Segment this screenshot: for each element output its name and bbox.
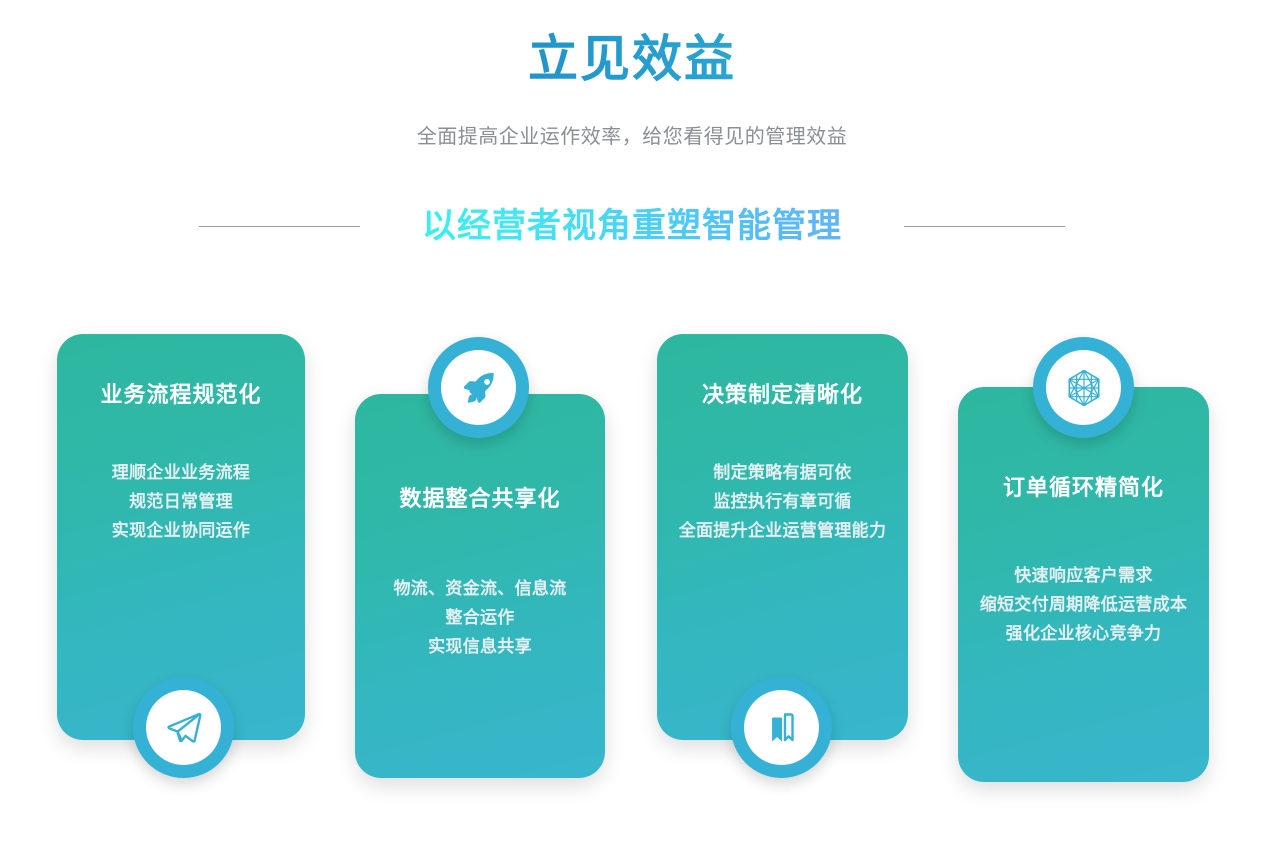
card-body: 快速响应客户需求 缩短交付周期降低运营成本 强化企业核心竞争力	[958, 561, 1209, 648]
paper-plane-icon	[165, 709, 203, 747]
card-body: 制定策略有据可依 监控执行有章可循 全面提升企业运营管理能力	[657, 458, 908, 545]
card-line: 缩短交付周期降低运营成本	[972, 590, 1195, 619]
card-line: 规范日常管理	[71, 487, 291, 516]
rocket-icon	[459, 368, 499, 408]
card-line: 实现信息共享	[369, 632, 591, 661]
card-icon-badge-2[interactable]	[428, 337, 529, 438]
badge-disc	[744, 690, 819, 765]
card-title: 决策制定清晰化	[657, 380, 908, 410]
card-title: 数据整合共享化	[355, 484, 605, 514]
card-line: 物流、资金流、信息流	[369, 574, 591, 603]
card-line: 整合运作	[369, 603, 591, 632]
card-line: 监控执行有章可循	[671, 487, 894, 516]
benefits-page: 立见效益 全面提高企业运作效率，给您看得见的管理效益 以经营者视角重塑智能管理 …	[0, 0, 1264, 859]
card-line: 快速响应客户需求	[972, 561, 1195, 590]
card-line: 强化企业核心竞争力	[972, 619, 1195, 648]
card-title: 订单循环精简化	[958, 473, 1209, 503]
bookmark-icon	[764, 710, 800, 746]
card-line: 实现企业协同运作	[71, 516, 291, 545]
badge-disc	[1046, 350, 1121, 425]
badge-disc	[146, 690, 221, 765]
card-body: 物流、资金流、信息流 整合运作 实现信息共享	[355, 574, 605, 661]
card-icon-badge-3[interactable]	[731, 677, 832, 778]
card-line: 制定策略有据可依	[671, 458, 894, 487]
card-body: 理顺企业业务流程 规范日常管理 实现企业协同运作	[57, 458, 305, 545]
benefit-card-order-cycle[interactable]: 订单循环精简化 快速响应客户需求 缩短交付周期降低运营成本 强化企业核心竞争力	[958, 387, 1209, 782]
card-title: 业务流程规范化	[57, 380, 305, 410]
card-icon-badge-4[interactable]	[1033, 337, 1134, 438]
card-line: 理顺企业业务流程	[71, 458, 291, 487]
benefit-card-list: 业务流程规范化 理顺企业业务流程 规范日常管理 实现企业协同运作 数据整合共享化…	[0, 0, 1264, 859]
badge-disc	[441, 350, 516, 425]
card-line: 全面提升企业运营管理能力	[671, 516, 894, 545]
hexagon-network-icon	[1062, 366, 1106, 410]
card-icon-badge-1[interactable]	[133, 677, 234, 778]
benefit-card-data-integration[interactable]: 数据整合共享化 物流、资金流、信息流 整合运作 实现信息共享	[355, 394, 605, 778]
